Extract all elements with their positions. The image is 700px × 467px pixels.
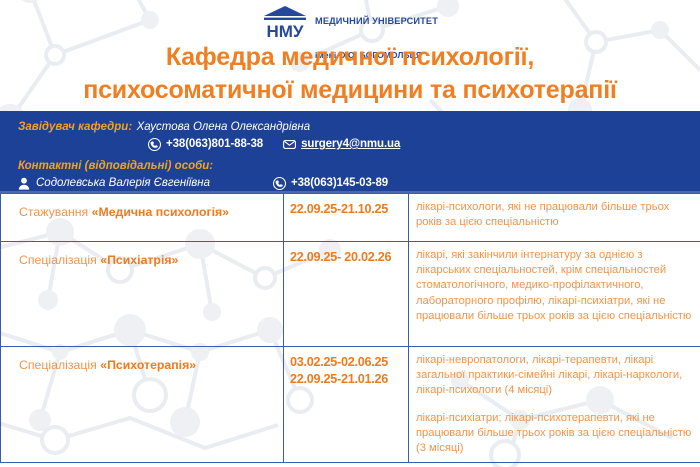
program-date: 22.09.25-21.10.25 xyxy=(290,201,404,218)
program-date: 22.09.25-21.01.26 xyxy=(290,371,404,388)
program-name-cell: Спеціалізація «Психотерапія» xyxy=(1,347,284,463)
phone-icon xyxy=(273,177,286,190)
program-audience-cell: лікарі-психологи, які не працювали більш… xyxy=(409,194,700,242)
department-head-label: Завідувач кафедри: xyxy=(18,121,132,133)
head-email-address: surgery4@nmu.ua xyxy=(301,137,400,152)
poster-page: НМУ НАЦІОНАЛЬНИЙ МЕДИЧНИЙ УНІВЕРСИТЕТ ім… xyxy=(0,0,700,467)
program-audience-paragraph: лікарі-психіатри; лікарі-психотерапевти,… xyxy=(416,411,694,457)
programs-table: Стажування «Медична психологія» 22.09.25… xyxy=(0,193,700,463)
program-audience-cell: лікарі-невропатологи, лікарі-терапевти, … xyxy=(409,347,700,463)
program-audience-cell: лікарі, які закінчили інтернатуру за одн… xyxy=(409,242,700,347)
program-type: Спеціалізація xyxy=(19,358,97,372)
program-type: Спеціалізація xyxy=(19,253,97,267)
program-type: Стажування xyxy=(19,205,88,219)
head-email-item[interactable]: surgery4@nmu.ua xyxy=(283,137,400,152)
head-phone-number: +38(063)801-88-38 xyxy=(166,137,263,152)
program-dates-cell: 03.02.25-02.06.25 22.09.25-21.01.26 xyxy=(284,347,409,463)
phone-icon xyxy=(148,138,161,151)
program-audience-paragraph: лікарі-невропатологи, лікарі-терапевти, … xyxy=(416,353,694,399)
university-header: НМУ НАЦІОНАЛЬНИЙ МЕДИЧНИЙ УНІВЕРСИТЕТ ім… xyxy=(0,0,700,40)
program-date: 22.09.25- 20.02.26 xyxy=(290,249,404,266)
responsible-person-row: Содолевська Валерія Євгеніївна +38(063)1… xyxy=(18,175,700,191)
responsible-persons-label-row: Контактні (відповідальні) особи: xyxy=(18,157,700,174)
table-row: Спеціалізація «Психіатрія» 22.09.25- 20.… xyxy=(1,242,700,347)
head-phone-item[interactable]: +38(063)801-88-38 xyxy=(148,137,263,152)
university-name-line2: МЕДИЧНИЙ УНІВЕРСИТЕТ xyxy=(315,16,438,27)
responsible-phone-number: +38(063)145-03-89 xyxy=(291,175,388,191)
program-dates-cell: 22.09.25- 20.02.26 xyxy=(284,242,409,347)
svg-text:НМУ: НМУ xyxy=(267,22,304,40)
mail-icon xyxy=(283,138,296,151)
department-head-row: Завідувач кафедри: Хаустова Олена Олекса… xyxy=(18,118,700,135)
department-head-name: Хаустова Олена Олександрівна xyxy=(137,121,311,133)
program-dates-cell: 22.09.25-21.10.25 xyxy=(284,194,409,242)
program-name-cell: Спеціалізація «Психіатрія» xyxy=(1,242,284,347)
department-head-contacts: +38(063)801-88-38 surgery4@nmu.ua xyxy=(18,137,700,152)
program-audience-paragraph: лікарі-психологи, які не працювали більш… xyxy=(416,200,694,230)
responsible-person-name: Содолевська Валерія Євгеніївна xyxy=(36,175,210,191)
page-title-line2: психосоматичної медицини та психотерапії xyxy=(0,75,700,105)
responsible-phone-item[interactable]: +38(063)145-03-89 xyxy=(273,175,388,191)
program-name-cell: Стажування «Медична психологія» xyxy=(1,194,284,242)
page-title-line1: Кафедра медичної психології, xyxy=(0,42,700,72)
contacts-band: Завідувач кафедри: Хаустова Олена Олекса… xyxy=(0,111,700,193)
responsible-persons-label: Контактні (відповідальні) особи: xyxy=(18,160,213,172)
program-audience-paragraph: лікарі, які закінчили інтернатуру за одн… xyxy=(416,248,694,324)
table-row: Стажування «Медична психологія» 22.09.25… xyxy=(1,194,700,242)
program-title: «Медична психологія» xyxy=(92,205,229,219)
table-row: Спеціалізація «Психотерапія» 03.02.25-02… xyxy=(1,347,700,463)
program-title: «Психотерапія» xyxy=(100,358,196,372)
nmu-university-logo-icon: НМУ xyxy=(262,4,308,40)
program-title: «Психіатрія» xyxy=(100,253,178,267)
program-date: 03.02.25-02.06.25 xyxy=(290,354,404,371)
responsible-person-item: Содолевська Валерія Євгеніївна xyxy=(18,175,273,191)
person-icon xyxy=(18,177,30,190)
